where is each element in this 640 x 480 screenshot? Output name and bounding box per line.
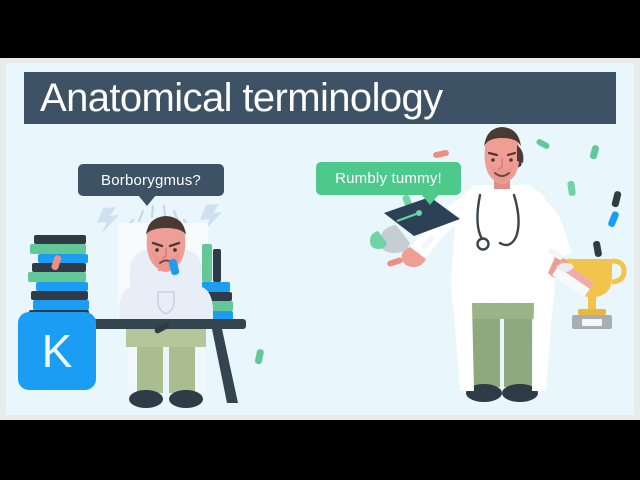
letterbox-bar-bottom xyxy=(0,420,640,480)
speech-bubble-tail xyxy=(421,194,439,205)
desk-leg-right xyxy=(212,329,238,403)
video-canvas: Anatomical terminology Borborygmus? Rumb… xyxy=(6,63,634,415)
speech-bubble-tail xyxy=(138,195,156,206)
speech-bubble-doctor: Rumbly tummy! xyxy=(316,162,461,195)
book-stack-tall xyxy=(28,235,89,319)
student-shoe-left xyxy=(129,390,163,408)
stress-lightning-bolt-left xyxy=(97,207,119,233)
logo-letter: K xyxy=(42,328,73,374)
speech-bubble-student: Borborygmus? xyxy=(78,164,224,196)
speech-bubble-doctor-text: Rumbly tummy! xyxy=(335,170,442,187)
video-frame: Anatomical terminology Borborygmus? Rumb… xyxy=(0,58,640,420)
letterbox-bar-top xyxy=(0,0,640,58)
speech-bubble-student-text: Borborygmus? xyxy=(101,172,201,189)
page-title: Anatomical terminology xyxy=(40,78,443,118)
student-shoe-right xyxy=(169,390,203,408)
video-player-stage: Anatomical terminology Borborygmus? Rumb… xyxy=(0,0,640,480)
kenhub-logo: K xyxy=(18,312,96,390)
title-banner: Anatomical terminology xyxy=(24,72,616,124)
